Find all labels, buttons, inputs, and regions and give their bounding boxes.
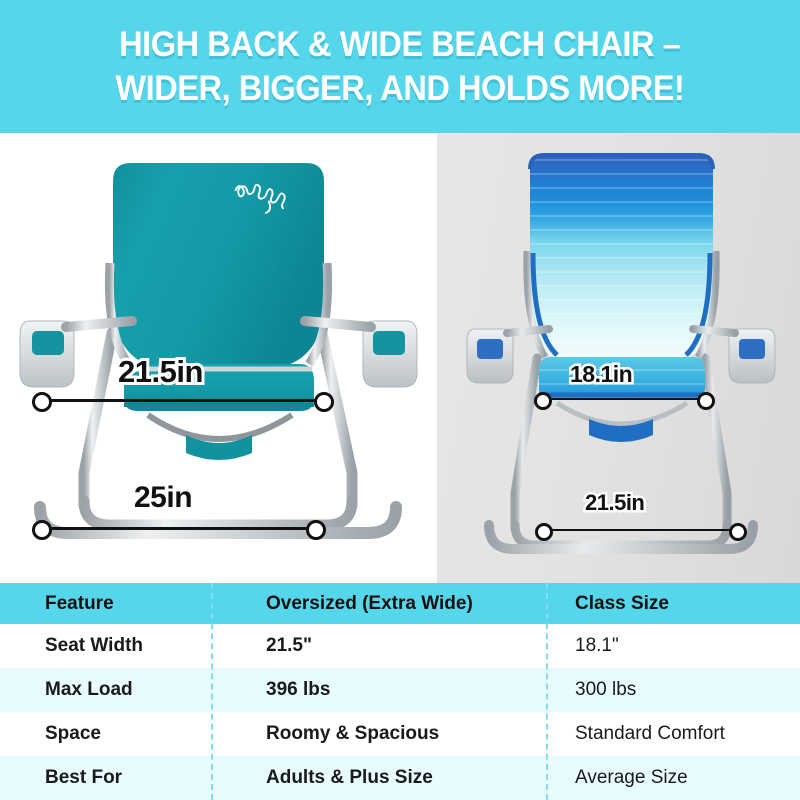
classic-overall-width-label: 21.5in bbox=[585, 490, 644, 516]
oversized-seat-width-dot-left bbox=[32, 392, 52, 412]
product-panels: 18.1in 21.5in bbox=[0, 133, 800, 583]
row-classic-max-load: 300 lbs bbox=[546, 679, 800, 701]
row-oversized-best-for: Adults & Plus Size bbox=[211, 767, 546, 789]
classic-chair-panel: 18.1in 21.5in bbox=[437, 133, 800, 583]
classic-seat-width-dot-right bbox=[697, 392, 715, 410]
classic-overall-width-dot-left bbox=[535, 523, 553, 541]
header-cell-classic: Class Size bbox=[546, 593, 800, 615]
table-row: Space Roomy & Spacious Standard Comfort bbox=[0, 712, 800, 756]
row-label-seat-width: Seat Width bbox=[0, 635, 211, 657]
table-header-row: Feature Oversized (Extra Wide) Class Siz… bbox=[0, 583, 800, 624]
table-row: Seat Width 21.5" 18.1" bbox=[0, 624, 800, 668]
banner-headline-line-2: WIDER, BIGGER, AND HOLDS MORE! bbox=[116, 67, 685, 111]
row-label-space: Space bbox=[0, 723, 211, 745]
classic-seat-width-line bbox=[540, 398, 703, 400]
row-label-best-for: Best For bbox=[0, 767, 211, 789]
table-row: Best For Adults & Plus Size Average Size bbox=[0, 756, 800, 800]
table-column-divider-2 bbox=[546, 583, 548, 800]
oversized-overall-width-line bbox=[40, 527, 313, 530]
oversized-overall-width-dot-left bbox=[32, 520, 52, 540]
row-classic-best-for: Average Size bbox=[546, 767, 800, 789]
header-cell-feature: Feature bbox=[0, 593, 211, 615]
oversized-seat-width-label: 21.5in bbox=[118, 354, 203, 390]
oversized-overall-width-dot-right bbox=[306, 520, 326, 540]
banner-headline-line-1: HIGH BACK & WIDE BEACH CHAIR – bbox=[119, 23, 680, 67]
oversized-seat-width-dot-right bbox=[314, 392, 334, 412]
product-comparison-infographic: HIGH BACK & WIDE BEACH CHAIR – WIDER, BI… bbox=[0, 0, 800, 800]
classic-seat-width-label: 18.1in bbox=[570, 361, 632, 388]
row-oversized-space: Roomy & Spacious bbox=[211, 723, 546, 745]
oversized-chair-illustration bbox=[0, 133, 437, 583]
table-row: Max Load 396 lbs 300 lbs bbox=[0, 668, 800, 712]
comparison-table: Feature Oversized (Extra Wide) Class Siz… bbox=[0, 583, 800, 800]
row-oversized-max-load: 396 lbs bbox=[211, 679, 546, 701]
classic-overall-width-line bbox=[541, 529, 735, 531]
row-label-max-load: Max Load bbox=[0, 679, 211, 701]
row-classic-seat-width: 18.1" bbox=[546, 635, 800, 657]
oversized-chair-svg bbox=[0, 133, 437, 583]
oversized-chair-panel: 21.5in 25in bbox=[0, 133, 437, 583]
header-cell-oversized: Oversized (Extra Wide) bbox=[211, 593, 546, 615]
header-banner: HIGH BACK & WIDE BEACH CHAIR – WIDER, BI… bbox=[0, 0, 800, 133]
oversized-seat-width-line bbox=[40, 399, 321, 402]
row-classic-space: Standard Comfort bbox=[546, 723, 800, 745]
classic-seat-width-dot-left bbox=[534, 392, 552, 410]
table-column-divider-1 bbox=[211, 583, 213, 800]
classic-overall-width-dot-right bbox=[729, 523, 747, 541]
oversized-overall-width-label: 25in bbox=[134, 481, 192, 515]
row-oversized-seat-width: 21.5" bbox=[211, 635, 546, 657]
